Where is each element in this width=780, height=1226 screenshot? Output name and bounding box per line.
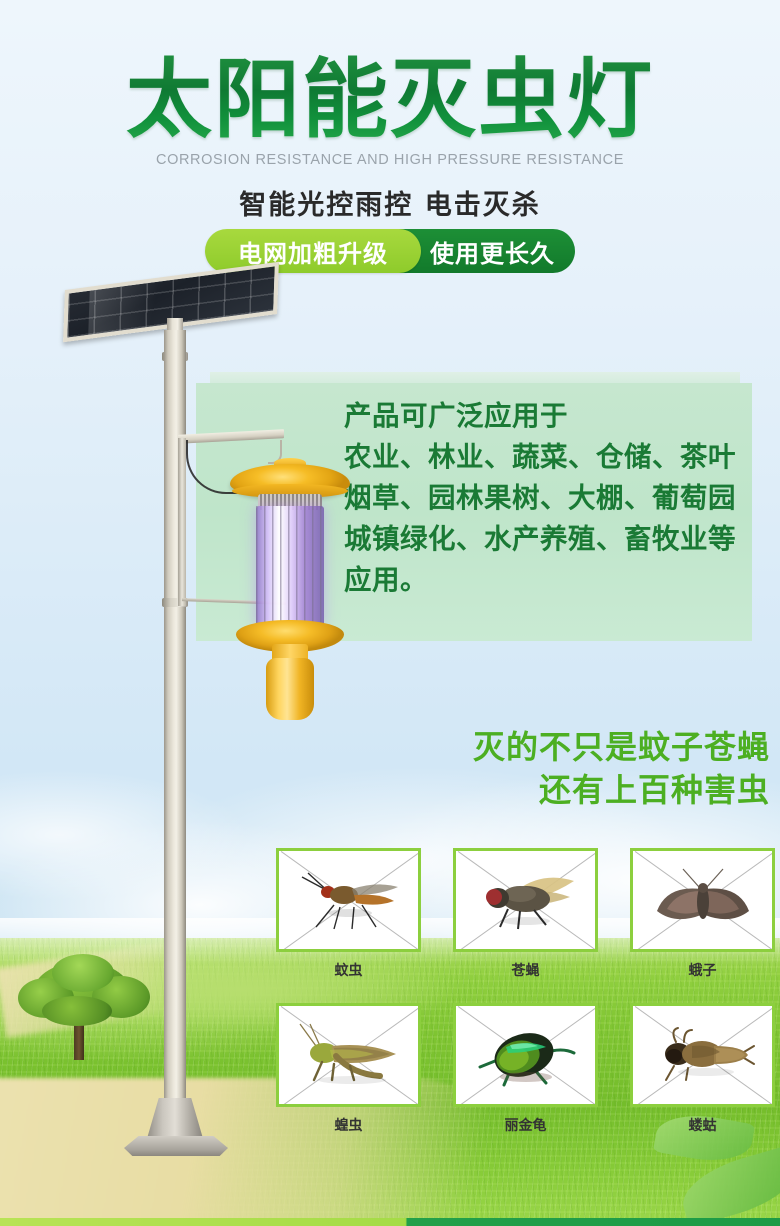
insect-photo-frame	[453, 1003, 598, 1107]
insect-row-1: 蚊虫	[276, 848, 776, 993]
fly-icon	[470, 865, 582, 935]
panel-line-2: 农业、林业、蔬菜、仓储、茶叶	[344, 437, 764, 478]
bottom-accent-bar	[0, 1218, 780, 1226]
feature-badges: 使用更长久 电网加粗升级	[0, 229, 780, 273]
locust-icon	[290, 1020, 408, 1090]
slogan-line-2: 还有上百种害虫	[380, 769, 770, 812]
insect-label: 蝗虫	[276, 1115, 421, 1135]
page-title: 太阳能灭虫灯	[0, 52, 780, 148]
panel-line-1: 产品可广泛应用于	[344, 396, 764, 437]
insect-photo-frame	[630, 848, 775, 952]
electric-grid-bars	[256, 506, 324, 628]
insect-label: 苍蝇	[453, 960, 598, 980]
insect-photo-frame	[453, 848, 598, 952]
insect-collection-bag	[266, 658, 314, 720]
insect-photo-frame	[630, 1003, 775, 1107]
panel-line-3: 烟草、园林果树、大棚、葡萄园	[344, 478, 764, 519]
insect-photo-frame	[276, 1003, 421, 1107]
mosquito-icon	[294, 865, 404, 935]
insect-cell-moth[interactable]: 蛾子	[630, 848, 775, 980]
insect-cell-scarab[interactable]: 丽金龟	[453, 1003, 598, 1135]
scarab-beetle-icon	[470, 1019, 582, 1091]
subtitle-english: CORROSION RESISTANCE AND HIGH PRESSURE R…	[0, 152, 780, 168]
mole-cricket-icon	[648, 1022, 758, 1088]
insect-cell-locust[interactable]: 蝗虫	[276, 1003, 421, 1135]
tree-illustration	[12, 952, 162, 1062]
insect-killer-lamp	[230, 458, 350, 708]
insect-label: 蚊虫	[276, 960, 421, 980]
arm-brace	[178, 438, 186, 606]
tree-crown	[42, 996, 112, 1026]
insect-cell-mole-cricket[interactable]: 蝼蛄	[630, 1003, 775, 1135]
tree-crown	[52, 954, 114, 992]
insect-photo-frame	[276, 848, 421, 952]
insect-label: 丽金龟	[453, 1115, 598, 1135]
moth-icon	[649, 865, 757, 935]
insect-label: 蛾子	[630, 960, 775, 980]
slogan-line-1: 灭的不只是蚊子苍蝇	[380, 726, 770, 769]
insect-cell-fly[interactable]: 苍蝇	[453, 848, 598, 980]
insect-cell-mosquito[interactable]: 蚊虫	[276, 848, 421, 980]
pole-base-plate	[124, 1136, 228, 1156]
insect-label: 蝼蛄	[630, 1115, 775, 1135]
subtitle-chinese: 智能光控雨控 电击灭杀	[0, 183, 780, 222]
product-poster: 太阳能灭虫灯 太阳能灭虫灯 CORROSION RESISTANCE AND H…	[0, 0, 780, 1226]
panel-line-5: 应用。	[344, 560, 764, 601]
insect-row-2: 蝗虫	[276, 1003, 776, 1148]
panel-line-4: 城镇绿化、水产养殖、畜牧业等	[344, 519, 764, 560]
slogan-text: 灭的不只是蚊子苍蝇 还有上百种害虫	[380, 726, 770, 812]
application-panel-text: 产品可广泛应用于 农业、林业、蔬菜、仓储、茶叶 烟草、园林果树、大棚、葡萄园 城…	[344, 396, 764, 601]
